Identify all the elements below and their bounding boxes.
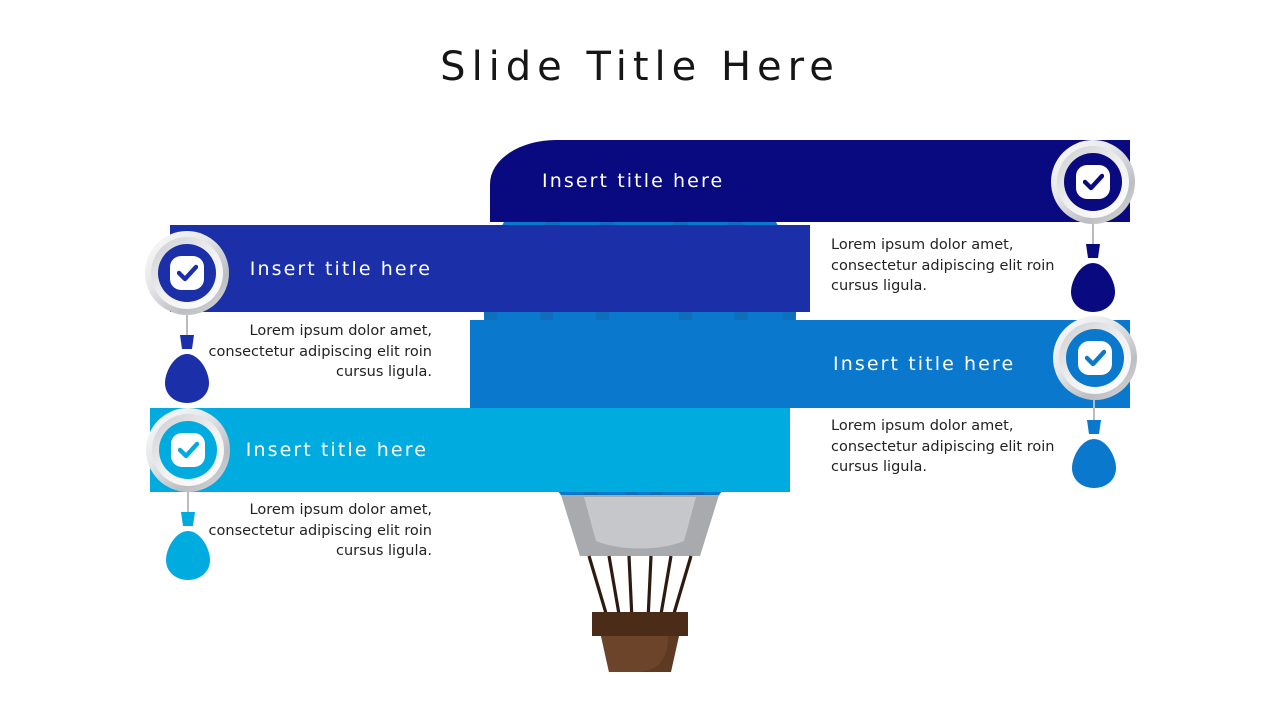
balloon-basket (592, 612, 688, 672)
band-1-title: Insert title here (542, 170, 724, 192)
content-band-2[interactable]: Insert title here (170, 225, 810, 312)
sandbag-icon-4 (160, 492, 216, 584)
badge-2[interactable] (145, 231, 229, 315)
sandbag-icon-1 (1065, 224, 1121, 316)
badge-3[interactable] (1053, 316, 1137, 400)
band-4-body: Lorem ipsum dolor amet, consectetur adip… (200, 500, 432, 562)
check-circle-icon (1076, 165, 1110, 199)
check-circle-icon (1078, 341, 1112, 375)
sandbag-icon-2 (159, 315, 215, 407)
band-2-body: Lorem ipsum dolor amet, consectetur adip… (200, 321, 432, 383)
badge-1[interactable] (1051, 140, 1135, 224)
check-circle-icon (170, 256, 204, 290)
band-3-title: Insert title here (833, 353, 1015, 375)
band-1-body: Lorem ipsum dolor amet, consectetur adip… (831, 235, 1061, 297)
balloon-skirt (561, 495, 719, 556)
balloon-ropes (589, 556, 691, 620)
badge-4[interactable] (146, 408, 230, 492)
slide-canvas: Slide Title Here (0, 0, 1280, 720)
band-2-title: Insert title here (250, 258, 432, 280)
content-band-4[interactable]: Insert title here (150, 408, 790, 492)
sandbag-icon-3 (1066, 400, 1122, 492)
band-3-body: Lorem ipsum dolor amet, consectetur adip… (831, 416, 1063, 478)
content-band-3[interactable]: Insert title here (470, 320, 1130, 408)
check-circle-icon (171, 433, 205, 467)
band-4-title: Insert title here (246, 439, 428, 461)
content-band-1[interactable]: Insert title here (490, 140, 1130, 222)
